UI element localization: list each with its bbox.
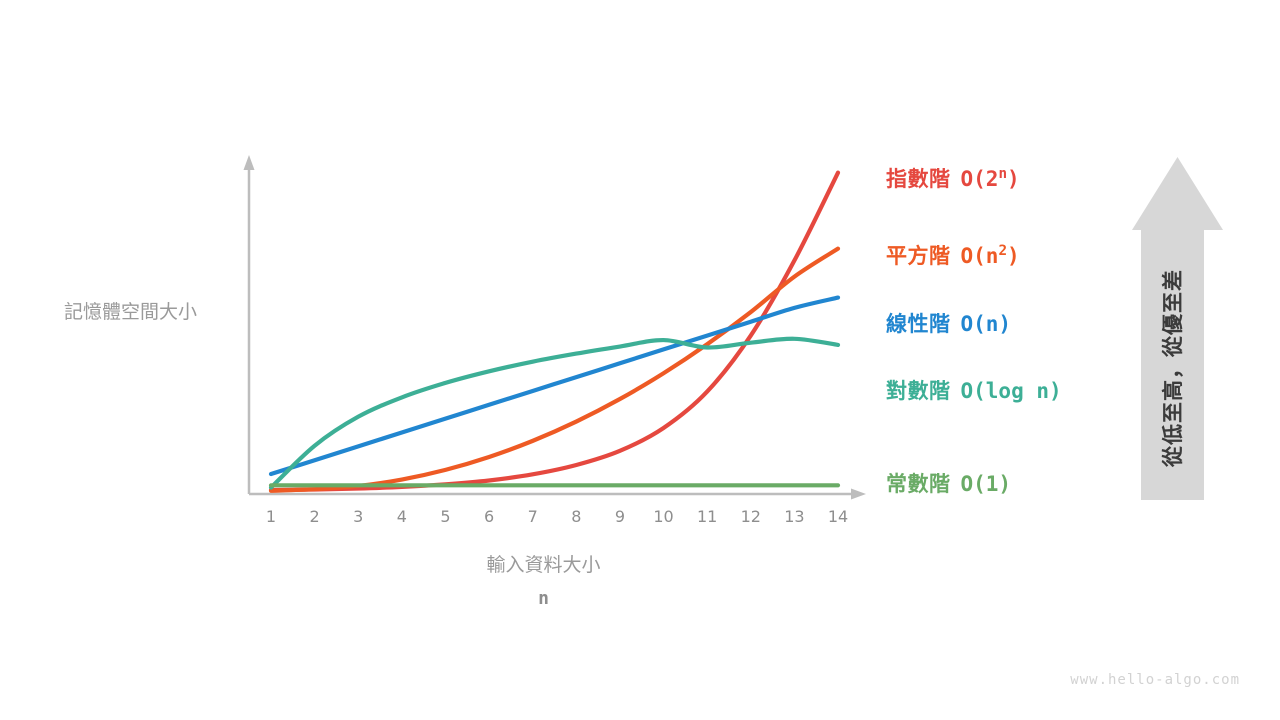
x-tick-6: 6 [469, 507, 509, 526]
series-line-2 [271, 298, 838, 474]
ranking-arrow-label: 從低至高，從優至差 [1157, 269, 1187, 467]
legend-entry-1: 平方階O(n2) [886, 240, 1020, 270]
legend-entry-2: 線性階O(n) [886, 308, 1011, 338]
y-axis-arrowhead [244, 155, 255, 170]
watermark: www.hello-algo.com [1070, 672, 1240, 688]
legend-entry-0: 指數階O(2n) [886, 163, 1020, 193]
series-line-3 [271, 339, 838, 488]
y-axis-label: 記憶體空間大小 [64, 297, 197, 324]
legend-label-1: 平方階 [886, 245, 951, 268]
x-axis-variable-label: n [0, 588, 1087, 609]
x-axis-label: 輸入資料大小 [0, 550, 1087, 577]
x-tick-10: 10 [644, 507, 684, 526]
legend-notation-4: O(1) [961, 472, 1012, 496]
x-tick-7: 7 [513, 507, 553, 526]
legend-label-4: 常數階 [886, 473, 951, 496]
x-tick-12: 12 [731, 507, 771, 526]
series-line-0 [271, 173, 838, 491]
legend-entry-3: 對數階O(log n) [886, 375, 1062, 405]
legend-label-3: 對數階 [886, 380, 951, 403]
legend-notation-2: O(n) [961, 312, 1012, 336]
x-tick-4: 4 [382, 507, 422, 526]
x-tick-5: 5 [425, 507, 465, 526]
series-lines [271, 173, 838, 491]
x-axis-arrowhead [851, 489, 866, 500]
legend-entry-4: 常數階O(1) [886, 468, 1011, 498]
plot-area [0, 0, 1280, 720]
x-tick-8: 8 [556, 507, 596, 526]
x-tick-3: 3 [338, 507, 378, 526]
x-tick-14: 14 [818, 507, 858, 526]
legend-notation-0: O(2n) [961, 167, 1020, 191]
complexity-chart-figure: 記憶體空間大小 輸入資料大小 n 1234567891011121314 指數階… [0, 0, 1280, 720]
legend-label-2: 線性階 [886, 313, 951, 336]
series-line-1 [271, 249, 838, 491]
legend-notation-3: O(log n) [961, 379, 1062, 403]
x-tick-13: 13 [774, 507, 814, 526]
x-tick-9: 9 [600, 507, 640, 526]
x-tick-2: 2 [295, 507, 335, 526]
legend-notation-1: O(n2) [961, 244, 1020, 268]
y-axis [244, 155, 255, 494]
x-tick-1: 1 [251, 507, 291, 526]
x-tick-11: 11 [687, 507, 727, 526]
legend-label-0: 指數階 [886, 168, 951, 191]
